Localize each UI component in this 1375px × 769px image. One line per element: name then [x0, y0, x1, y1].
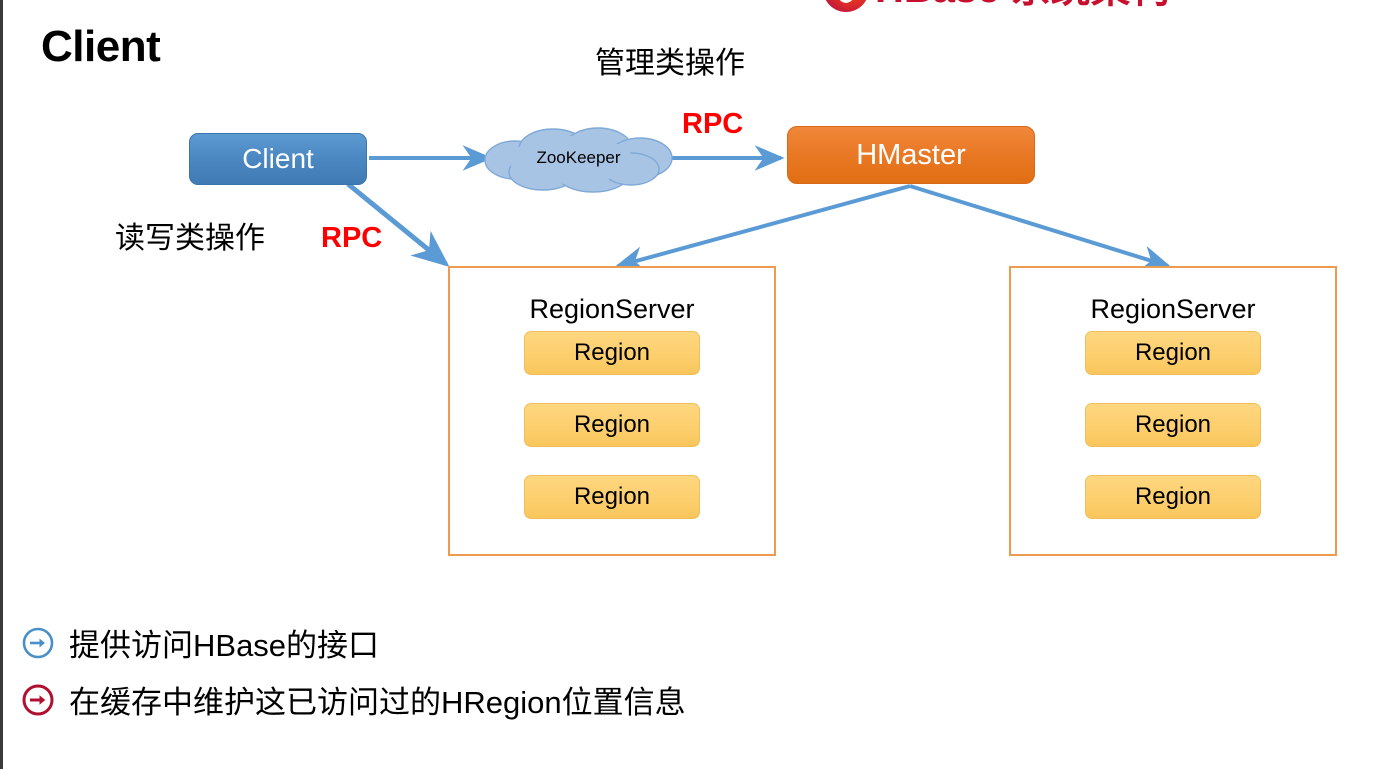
label-rpc-left: RPC	[321, 222, 382, 255]
list-item: 提供访问HBase的接口	[21, 620, 1321, 665]
bullet-text: 在缓存中维护这已访问过的HRegion位置信息	[69, 677, 686, 722]
region-box[interactable]: Region	[524, 331, 700, 375]
slide-canvas: HBase 系统架构 Client 管理类操作 读写类操作 RPC RPC Cl…	[0, 0, 1375, 769]
node-regionserver-right[interactable]: RegionServer Region Region Region	[1009, 266, 1337, 556]
node-client-label: Client	[242, 143, 314, 175]
region-box[interactable]: Region	[1085, 403, 1261, 447]
node-zookeeper[interactable]: ZooKeeper	[471, 122, 686, 194]
header-title: HBase 系统架构	[875, 0, 1171, 12]
region-box[interactable]: Region	[524, 475, 700, 519]
region-box[interactable]: Region	[1085, 331, 1261, 375]
bullet-text: 提供访问HBase的接口	[69, 620, 379, 665]
page-title: Client	[41, 22, 160, 72]
label-admin-operations: 管理类操作	[595, 38, 745, 82]
node-client[interactable]: Client	[189, 133, 367, 185]
label-read-write-operations: 读写类操作	[115, 213, 265, 257]
node-hmaster-label: HMaster	[856, 139, 966, 172]
regionserver-title: RegionServer	[450, 294, 774, 325]
region-box[interactable]: Region	[524, 403, 700, 447]
list-item: 在缓存中维护这已访问过的HRegion位置信息	[21, 677, 1321, 722]
arrow-circle-right-icon	[21, 626, 55, 660]
arrow-hmaster-to-regionserver-left	[618, 186, 910, 266]
arrow-circle-right-icon	[21, 683, 55, 717]
label-rpc-top: RPC	[682, 108, 743, 141]
node-zookeeper-label: ZooKeeper	[471, 122, 686, 194]
bullet-list: 提供访问HBase的接口 在缓存中维护这已访问过的HRegion位置信息	[21, 620, 1321, 734]
region-box[interactable]: Region	[1085, 475, 1261, 519]
node-regionserver-left[interactable]: RegionServer Region Region Region	[448, 266, 776, 556]
node-hmaster[interactable]: HMaster	[787, 126, 1035, 184]
regionserver-title: RegionServer	[1011, 294, 1335, 325]
arrow-hmaster-to-regionserver-right	[910, 186, 1168, 266]
hbase-circle-logo-icon	[823, 0, 869, 12]
slide-header: HBase 系统架构	[3, 0, 1375, 22]
